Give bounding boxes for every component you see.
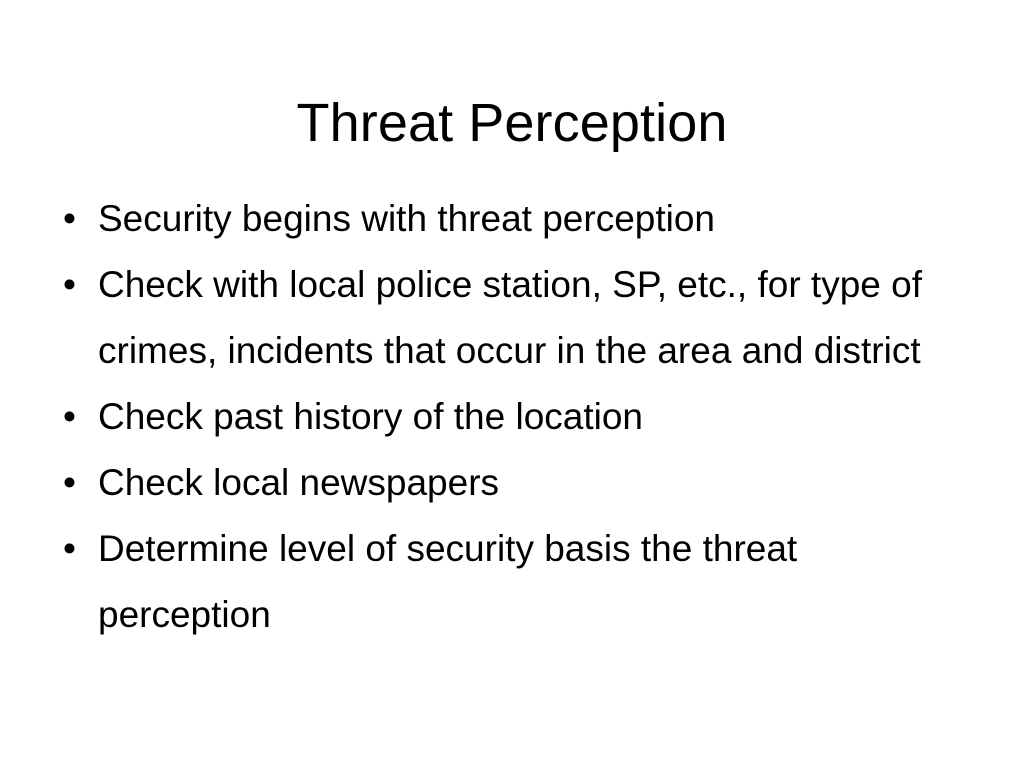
bullet-dot-icon: • (63, 252, 83, 318)
bullet-list-item: • Check local newspapers (56, 450, 970, 516)
bullet-list: • Security begins with threat perception… (56, 186, 976, 648)
bullet-dot-icon: • (63, 516, 83, 582)
bullet-list-item: • Check with local police station, SP, e… (56, 252, 970, 384)
bullet-dot-icon: • (63, 384, 83, 450)
bullet-text: Check local newspapers (98, 450, 970, 516)
bullet-text: Check with local police station, SP, etc… (98, 252, 970, 384)
presentation-slide: Threat Perception • Security begins with… (0, 0, 1024, 768)
bullet-text: Security begins with threat perception (98, 186, 970, 252)
bullet-list-item: • Security begins with threat perception (56, 186, 970, 252)
bullet-text: Check past history of the location (98, 384, 970, 450)
bullet-list-item: • Determine level of security basis the … (56, 516, 970, 648)
slide-title: Threat Perception (0, 90, 1024, 156)
bullet-text: Determine level of security basis the th… (98, 516, 970, 648)
bullet-dot-icon: • (63, 186, 83, 252)
slide-body: • Security begins with threat perception… (56, 186, 976, 648)
bullet-dot-icon: • (63, 450, 83, 516)
bullet-list-item: • Check past history of the location (56, 384, 970, 450)
